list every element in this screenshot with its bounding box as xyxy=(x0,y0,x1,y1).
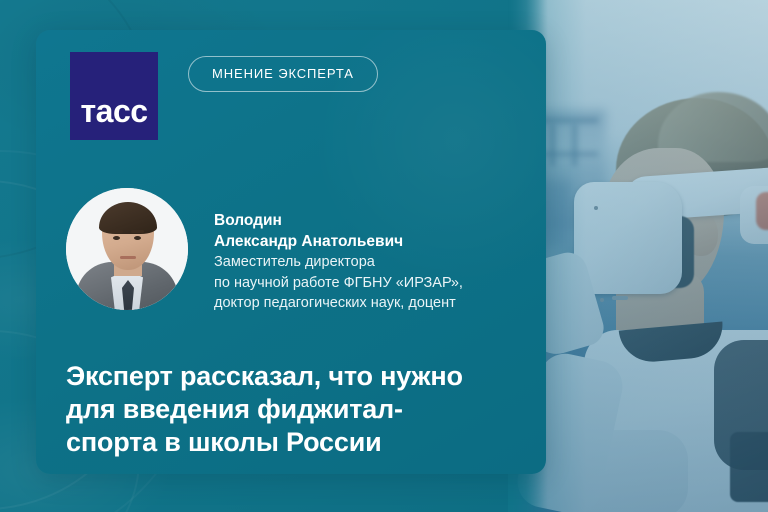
headline-line-1: Эксперт рассказал, что нужно xyxy=(66,360,526,393)
expert-block: Володин Александр Анатольевич Заместител… xyxy=(66,188,526,314)
expert-role-line-1: Заместитель директора xyxy=(214,252,463,273)
avatar-mouth xyxy=(120,256,136,259)
expert-details: Володин Александр Анатольевич Заместител… xyxy=(214,188,463,314)
avatar-eyebrow xyxy=(131,230,144,233)
avatar-eye xyxy=(113,236,120,240)
headline-line-3: спорта в школы России xyxy=(66,426,526,459)
headline-line-2: для введения фиджитал- xyxy=(66,393,526,426)
tass-logo[interactable]: тасс xyxy=(70,52,158,140)
expert-given-name: Александр Анатольевич xyxy=(214,231,463,252)
page-title: Эксперт рассказал, что нужно для введени… xyxy=(66,360,526,459)
content-card: тасс МНЕНИЕ ЭКСПЕРТА Володин Александр А… xyxy=(36,30,546,474)
avatar xyxy=(66,188,188,310)
expert-opinion-badge-label: МНЕНИЕ ЭКСПЕРТА xyxy=(212,66,354,81)
tass-logo-text: тасс xyxy=(80,95,147,127)
vr-child-photo xyxy=(508,0,768,512)
expert-opinion-badge: МНЕНИЕ ЭКСПЕРТА xyxy=(188,56,378,92)
avatar-eyebrow xyxy=(110,230,123,233)
expert-surname: Володин xyxy=(214,210,463,231)
expert-role-line-2: по научной работе ФГБНУ «ИРЗАР», xyxy=(214,273,463,294)
avatar-eye xyxy=(134,236,141,240)
expert-role-line-3: доктор педагогических наук, доцент xyxy=(214,293,463,314)
